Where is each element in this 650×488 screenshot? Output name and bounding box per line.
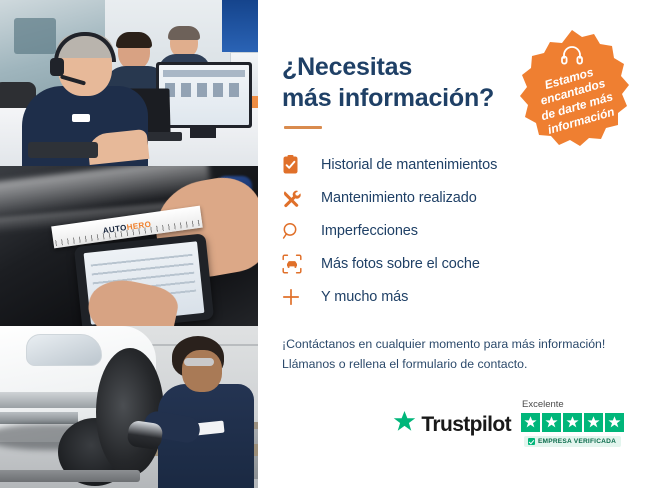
feature-item-imperfections: Imperfecciones [282, 215, 626, 247]
trustpilot-rating[interactable]: Trustpilot Excelente [393, 399, 624, 450]
mechanic-face [182, 350, 222, 392]
trustpilot-score-block: Excelente [521, 399, 624, 450]
headline-line-1: ¿Necesitas [282, 53, 412, 81]
car-lift-arm [0, 470, 140, 482]
feature-label: Mantenimiento realizado [308, 190, 477, 206]
photo-collage: AUTOHERO [0, 0, 258, 488]
feature-label: Imperfecciones [308, 223, 418, 239]
verified-check-icon [528, 438, 535, 445]
monitor-screen [159, 65, 249, 125]
trustpilot-stars [521, 413, 624, 432]
safety-glasses [184, 358, 214, 366]
content-panel: ¿Necesitas más información? Historial de… [258, 0, 650, 488]
desk-tablet [28, 142, 98, 158]
desktop-monitor [156, 62, 252, 128]
trustpilot-rating-label: Excelente [521, 399, 624, 410]
headset-band [54, 32, 116, 62]
car-headlamp [26, 334, 102, 366]
star-filled [605, 413, 624, 432]
car-photo-frame-icon [282, 253, 308, 275]
wall-poster [222, 0, 258, 52]
headline-line-2: más información? [282, 83, 512, 114]
car-grille-lower [0, 412, 78, 424]
trustpilot-logo[interactable]: Trustpilot [393, 411, 511, 438]
feature-item-much-more: Y mucho más [282, 281, 626, 313]
headset-earpiece [50, 58, 64, 76]
plus-icon [282, 286, 308, 308]
tools-icon [282, 187, 308, 209]
contact-line-2: Llámanos o rellena el formulario de cont… [282, 355, 626, 375]
mechanic [158, 336, 254, 488]
encantados-badge: Estamos encantados de darte más informac… [511, 28, 633, 150]
star-filled [542, 413, 561, 432]
feature-item-maintenance-done: Mantenimiento realizado [282, 182, 626, 214]
call-centre-agents-photo [0, 0, 258, 166]
colleague-hair [168, 26, 200, 40]
feature-label: Historial de mantenimientos [308, 157, 497, 173]
trustpilot-wordmark: Trustpilot [421, 413, 511, 437]
feature-label: Y mucho más [308, 289, 408, 305]
car-inspection-ruler-photo: AUTOHERO [0, 166, 258, 326]
mechanic-glove [126, 420, 163, 450]
information-request-banner: AUTOHERO [0, 0, 650, 488]
star-filled [563, 413, 582, 432]
star-filled [521, 413, 540, 432]
verified-label: EMPRESA VERIFICADA [538, 438, 616, 445]
feature-item-more-photos: Más fotos sobre el coche [282, 248, 626, 280]
trustpilot-star-icon [393, 411, 416, 438]
agent-name-badge [72, 114, 90, 122]
magnifier-icon [282, 220, 308, 242]
monitor-stand [190, 128, 216, 138]
contact-text: ¡Contáctanos en cualquier momento para m… [282, 335, 626, 375]
feature-list: Historial de mantenimientos Mantenimient… [282, 149, 626, 313]
page-title: ¿Necesitas más información? [282, 52, 512, 113]
mechanic-wheel-inspection-photo [0, 326, 258, 488]
feature-item-maintenance-history: Historial de mantenimientos [282, 149, 626, 181]
status-badge: EMPRESA VERIFICADA [524, 436, 621, 447]
car-grille-upper [0, 392, 104, 408]
title-divider [284, 126, 322, 129]
contact-line-1: ¡Contáctanos en cualquier momento para m… [282, 335, 626, 355]
star-filled [584, 413, 603, 432]
clipboard-check-icon [282, 154, 308, 176]
feature-label: Más fotos sobre el coche [308, 256, 480, 272]
